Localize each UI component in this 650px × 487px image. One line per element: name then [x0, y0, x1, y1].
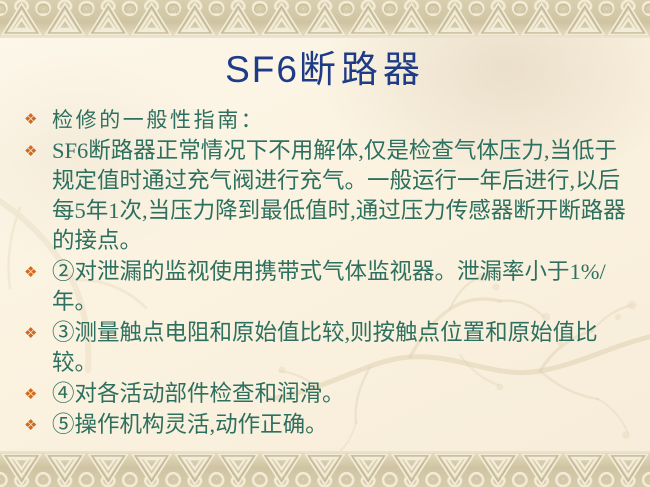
- list-item-text: ⑤操作机构灵活,动作正确。: [52, 410, 632, 440]
- bullet-diamond-icon: ❖: [18, 105, 52, 133]
- bullet-diamond-icon: ❖: [18, 318, 52, 348]
- list-item: ❖ ②对泄漏的监视使用携带式气体监视器。泄漏率小于1%/年。: [18, 257, 632, 317]
- list-item: ❖ ③测量触点电阻和原始值比较,则按触点位置和原始值比较。: [18, 318, 632, 378]
- slide-title-latin: SF6: [225, 49, 299, 90]
- list-item-text: ③测量触点电阻和原始值比较,则按触点位置和原始值比较。: [52, 318, 632, 378]
- top-border-ornament: [0, 0, 650, 38]
- bottom-border-ornament: [0, 451, 650, 487]
- list-item-text: SF6断路器正常情况下不用解体,仅是检查气体压力,当低于规定值时通过充气阀进行充…: [52, 136, 632, 256]
- list-item: ❖ ⑤操作机构灵活,动作正确。: [18, 410, 632, 440]
- list-item-text: 检修的一般性指南：: [52, 105, 632, 135]
- slide: SF6断路器 ❖ 检修的一般性指南： ❖ SF6断路器正常情况下不用解体,仅是检…: [0, 0, 650, 487]
- bullet-diamond-icon: ❖: [18, 136, 52, 166]
- bullet-list: ❖ 检修的一般性指南： ❖ SF6断路器正常情况下不用解体,仅是检查气体压力,当…: [18, 105, 632, 441]
- list-item-text: ④对各活动部件检查和润滑。: [52, 379, 632, 409]
- bullet-diamond-icon: ❖: [18, 410, 52, 440]
- list-item: ❖ ④对各活动部件检查和润滑。: [18, 379, 632, 409]
- list-item-text: ②对泄漏的监视使用携带式气体监视器。泄漏率小于1%/年。: [52, 257, 632, 317]
- slide-title-cjk: 断路器: [299, 49, 425, 90]
- slide-title: SF6断路器: [0, 48, 650, 92]
- list-item: ❖ 检修的一般性指南：: [18, 105, 632, 135]
- list-item: ❖ SF6断路器正常情况下不用解体,仅是检查气体压力,当低于规定值时通过充气阀进…: [18, 136, 632, 256]
- bullet-diamond-icon: ❖: [18, 257, 52, 287]
- bullet-diamond-icon: ❖: [18, 379, 52, 409]
